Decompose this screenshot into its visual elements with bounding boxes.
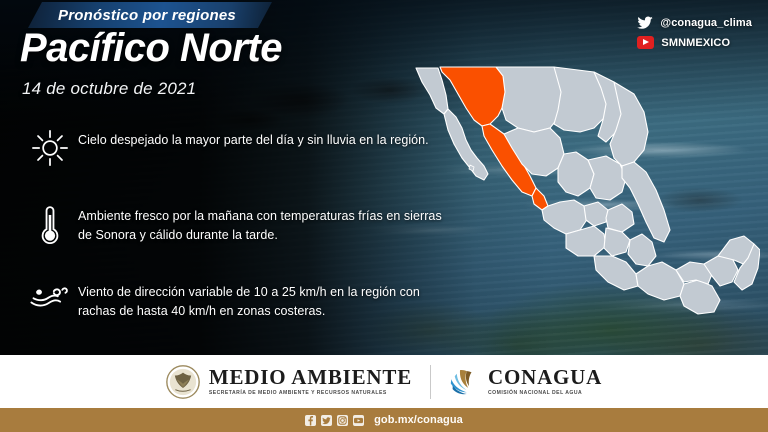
state-guerrero	[594, 256, 638, 290]
social-link-youtube[interactable]: SMNMEXICO	[637, 36, 730, 49]
logo-medio-ambiente: MEDIO AMBIENTE SECRETARÍA DE MEDIO AMBIE…	[166, 365, 412, 399]
state-mexico-df	[604, 228, 630, 256]
state-jalisco	[542, 200, 588, 234]
forecast-date: 14 de octubre de 2021	[22, 79, 196, 99]
state-puebla	[628, 234, 656, 266]
state-oaxaca	[636, 262, 684, 300]
state-chiapas	[680, 280, 720, 314]
wind-icon	[22, 278, 78, 314]
forecast-item-temperature: Ambiente fresco por la mañana con temper…	[22, 202, 442, 248]
state-zacatecas	[558, 152, 594, 196]
social-links-top: @conagua_clima SMNMEXICO	[637, 16, 752, 49]
forecast-item-wind: Viento de dirección variable de 10 a 25 …	[22, 278, 442, 324]
twitter-handle-label: @conagua_clima	[660, 17, 752, 29]
bottom-bar: gob.mx/conagua	[0, 408, 768, 432]
state-nayarit	[532, 188, 548, 210]
twitter-icon	[637, 16, 653, 30]
mexico-map	[408, 62, 760, 360]
youtube-channel-label: SMNMEXICO	[661, 37, 730, 49]
youtube-icon[interactable]	[353, 415, 364, 426]
state-guanajuato	[584, 202, 608, 226]
logo-conagua: CONAGUA COMISIÓN NACIONAL DEL AGUA	[449, 366, 602, 398]
weather-infographic: Pronóstico por regiones Pacífico Norte 1…	[0, 0, 768, 432]
footer-logos: MEDIO AMBIENTE SECRETARÍA DE MEDIO AMBIE…	[0, 355, 768, 408]
forecast-item-wind-text: Viento de dirección variable de 10 a 25 …	[78, 278, 442, 321]
state-veracruz	[622, 162, 670, 242]
medio-ambiente-words: MEDIO AMBIENTE SECRETARÍA DE MEDIO AMBIE…	[209, 367, 412, 396]
ribbon-label: Pronóstico por regiones	[58, 7, 236, 24]
state-queretaro-hidalgo	[606, 204, 634, 232]
instagram-icon[interactable]	[337, 415, 348, 426]
logo-medio-ambiente-title: MEDIO AMBIENTE	[209, 367, 412, 388]
thermometer-icon	[22, 202, 78, 246]
website-url[interactable]: gob.mx/conagua	[374, 414, 463, 426]
ribbon-banner: Pronóstico por regiones	[28, 2, 272, 28]
mexico-eagle-seal-icon	[166, 365, 200, 399]
mexico-map-svg	[408, 62, 760, 360]
state-baja-california	[416, 68, 448, 114]
conagua-water-eagle-icon	[449, 366, 479, 398]
forecast-item-sky-text: Cielo despejado la mayor parte del día y…	[78, 126, 429, 150]
forecast-list: Cielo despejado la mayor parte del día y…	[22, 126, 442, 354]
twitter-icon[interactable]	[321, 415, 332, 426]
state-chihuahua	[496, 67, 562, 132]
logo-medio-ambiente-subtitle: SECRETARÍA DE MEDIO AMBIENTE Y RECURSOS …	[209, 391, 412, 396]
sun-icon	[22, 126, 78, 168]
page-title: Pacífico Norte	[20, 26, 282, 71]
logo-divider	[430, 365, 431, 399]
facebook-icon[interactable]	[305, 415, 316, 426]
conagua-words: CONAGUA COMISIÓN NACIONAL DEL AGUA	[488, 367, 602, 396]
forecast-item-sky: Cielo despejado la mayor parte del día y…	[22, 126, 442, 172]
youtube-icon	[637, 36, 654, 49]
social-link-twitter[interactable]: @conagua_clima	[637, 16, 752, 30]
logo-conagua-title: CONAGUA	[488, 367, 602, 388]
logo-conagua-subtitle: COMISIÓN NACIONAL DEL AGUA	[488, 391, 602, 396]
forecast-item-temperature-text: Ambiente fresco por la mañana con temper…	[78, 202, 442, 245]
